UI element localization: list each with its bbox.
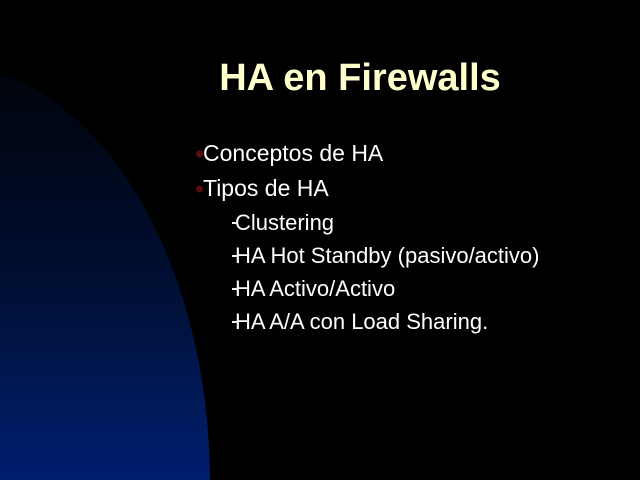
list-item: Clustering <box>196 206 626 239</box>
list-item: HA Hot Standby (pasivo/activo) <box>196 239 626 272</box>
slide-bullet-list: Conceptos de HA Tipos de HA Clustering H… <box>196 136 626 338</box>
round-bullet-icon <box>196 150 203 157</box>
list-item-label: HA Activo/Activo <box>235 276 395 301</box>
dash-bullet-icon <box>232 255 238 257</box>
list-item: Tipos de HA <box>196 171 626 206</box>
slide-title: HA en Firewalls <box>160 55 560 101</box>
dash-bullet-icon <box>232 321 238 323</box>
list-item: HA Activo/Activo <box>196 272 626 305</box>
list-item: Conceptos de HA <box>196 136 626 171</box>
round-bullet-icon <box>196 185 203 192</box>
list-item-label: Clustering <box>235 210 334 235</box>
dash-bullet-icon <box>232 222 238 224</box>
list-item-label: HA A/A con Load Sharing. <box>235 309 488 334</box>
list-item-label: HA Hot Standby (pasivo/activo) <box>235 243 539 268</box>
list-item: HA A/A con Load Sharing. <box>196 305 626 338</box>
presentation-slide: HA en Firewalls Conceptos de HA Tipos de… <box>0 0 640 480</box>
decorative-blue-ellipse <box>0 62 210 480</box>
dash-bullet-icon <box>232 288 238 290</box>
list-item-label: Tipos de HA <box>203 175 329 201</box>
list-item-label: Conceptos de HA <box>203 140 383 166</box>
